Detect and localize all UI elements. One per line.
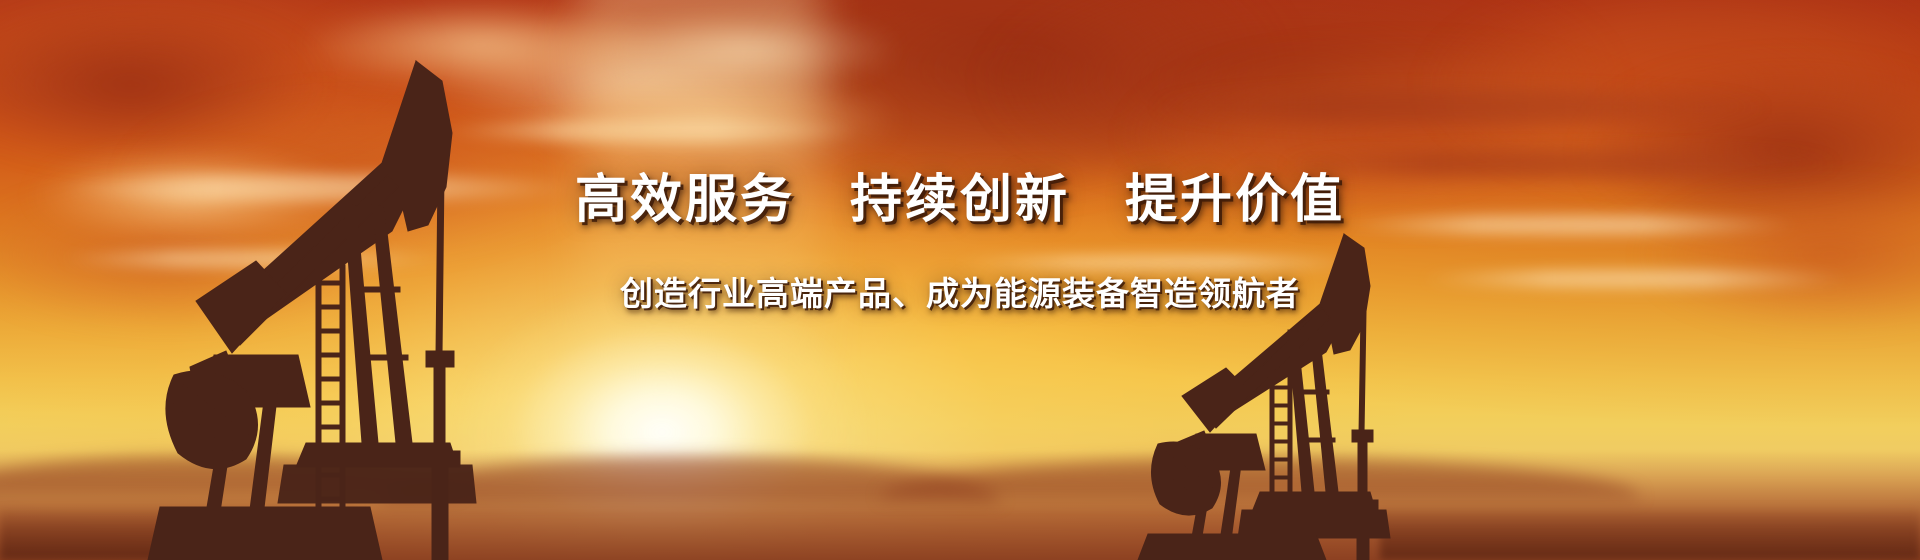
banner-subheadline: 创造行业高端产品、成为能源装备智造领航者	[0, 267, 1920, 315]
hero-banner: 高效服务 持续创新 提升价值 创造行业高端产品、成为能源装备智造领航者	[0, 0, 1920, 560]
banner-headline: 高效服务 持续创新 提升价值	[0, 172, 1920, 229]
banner-copy: 高效服务 持续创新 提升价值 创造行业高端产品、成为能源装备智造领航者	[0, 172, 1920, 315]
